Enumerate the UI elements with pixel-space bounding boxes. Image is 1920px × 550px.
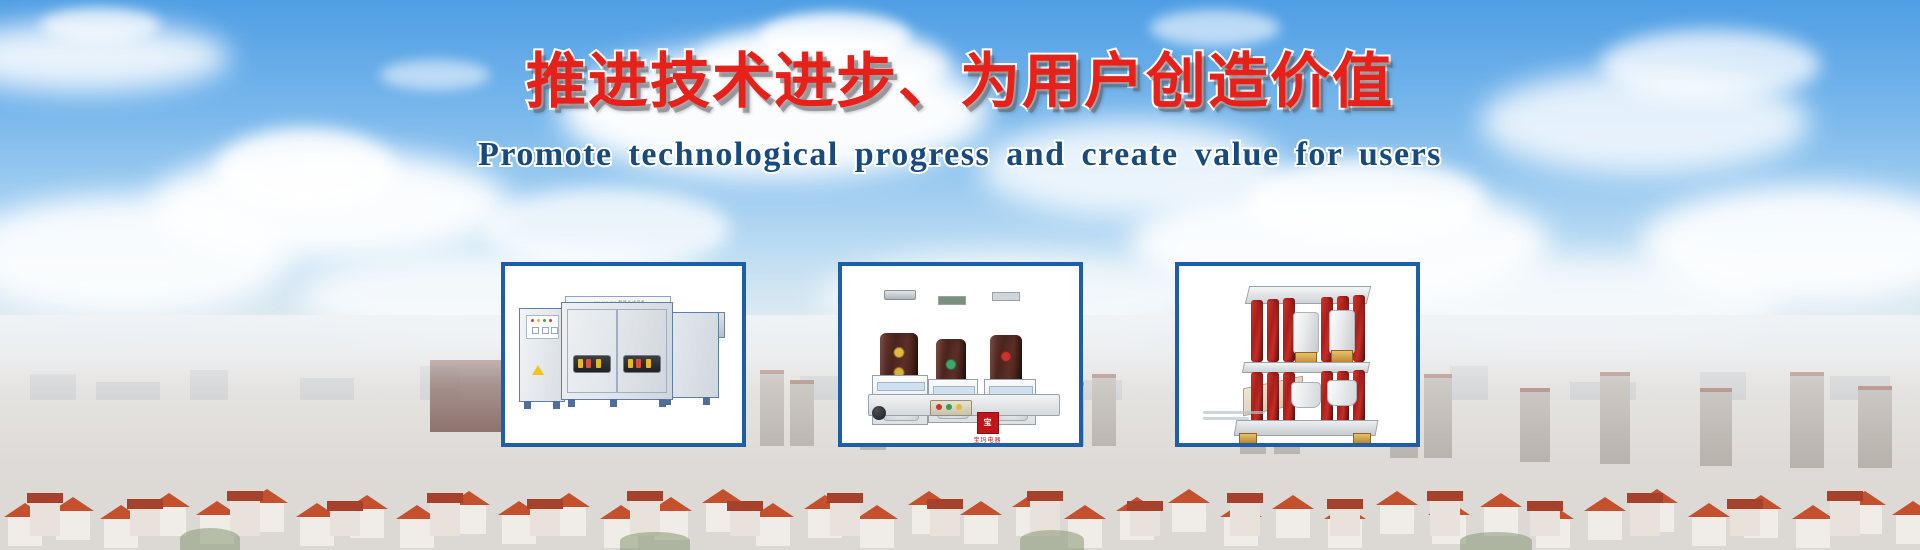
panel3-caption-lines xyxy=(1203,411,1273,423)
contactor-roller-left xyxy=(872,406,886,420)
vacuum-contactor-illustration: 宝 宝玛电器 BAO MA ELECTRIC xyxy=(842,266,1079,443)
cabinet-main-body xyxy=(561,302,673,400)
product-panel-2[interactable]: 宝 宝玛电器 BAO MA ELECTRIC xyxy=(838,262,1083,447)
stack-top-plate xyxy=(1244,286,1370,304)
hv-contactor-illustration xyxy=(1179,266,1416,443)
cabinet-side-unit xyxy=(519,308,565,402)
cabinet-control-panel xyxy=(526,315,559,339)
headline-container: 推进技术进步、为用户创造价值 xyxy=(0,52,1920,112)
product-panel-3[interactable] xyxy=(1175,262,1420,447)
promo-banner: 推进技术进步、为用户创造价值 Promote technological pro… xyxy=(0,0,1920,550)
brand-logo: 宝 宝玛电器 BAO MA ELECTRIC xyxy=(966,412,1010,447)
vacuum-tube-2 xyxy=(1329,310,1355,354)
product-panel-row: ● XX-XX-XX 智能化成设备 xyxy=(0,262,1920,452)
cabinet-vent-right xyxy=(623,355,661,373)
cabinet-door-right xyxy=(617,309,667,393)
vacuum-tube-1 xyxy=(1293,312,1319,354)
logo-mark: 宝 xyxy=(977,412,999,434)
cabinet-vent-left xyxy=(573,355,611,373)
lower-coil-2 xyxy=(1327,380,1357,406)
control-cabinet-illustration: ● XX-XX-XX 智能化成设备 xyxy=(505,266,742,443)
subtitle-container: Promote technological progress and creat… xyxy=(0,136,1920,174)
contactor-terminal-2 xyxy=(938,296,966,305)
cabinet-door-left xyxy=(567,309,617,393)
product-panel-1[interactable]: ● XX-XX-XX 智能化成设备 xyxy=(501,262,746,447)
logo-subtext: BAO MA ELECTRIC xyxy=(966,444,1010,447)
logo-name: 宝玛电器 xyxy=(966,435,1010,444)
contactor-cap-1 xyxy=(884,290,916,300)
subtitle-english: Promote technological progress and creat… xyxy=(478,136,1442,174)
contactor-terminal-3 xyxy=(992,292,1020,301)
lower-coil-1 xyxy=(1291,382,1321,408)
headline-chinese: 推进技术进步、为用户创造价值 xyxy=(526,52,1394,112)
warning-triangle-icon xyxy=(532,365,544,375)
